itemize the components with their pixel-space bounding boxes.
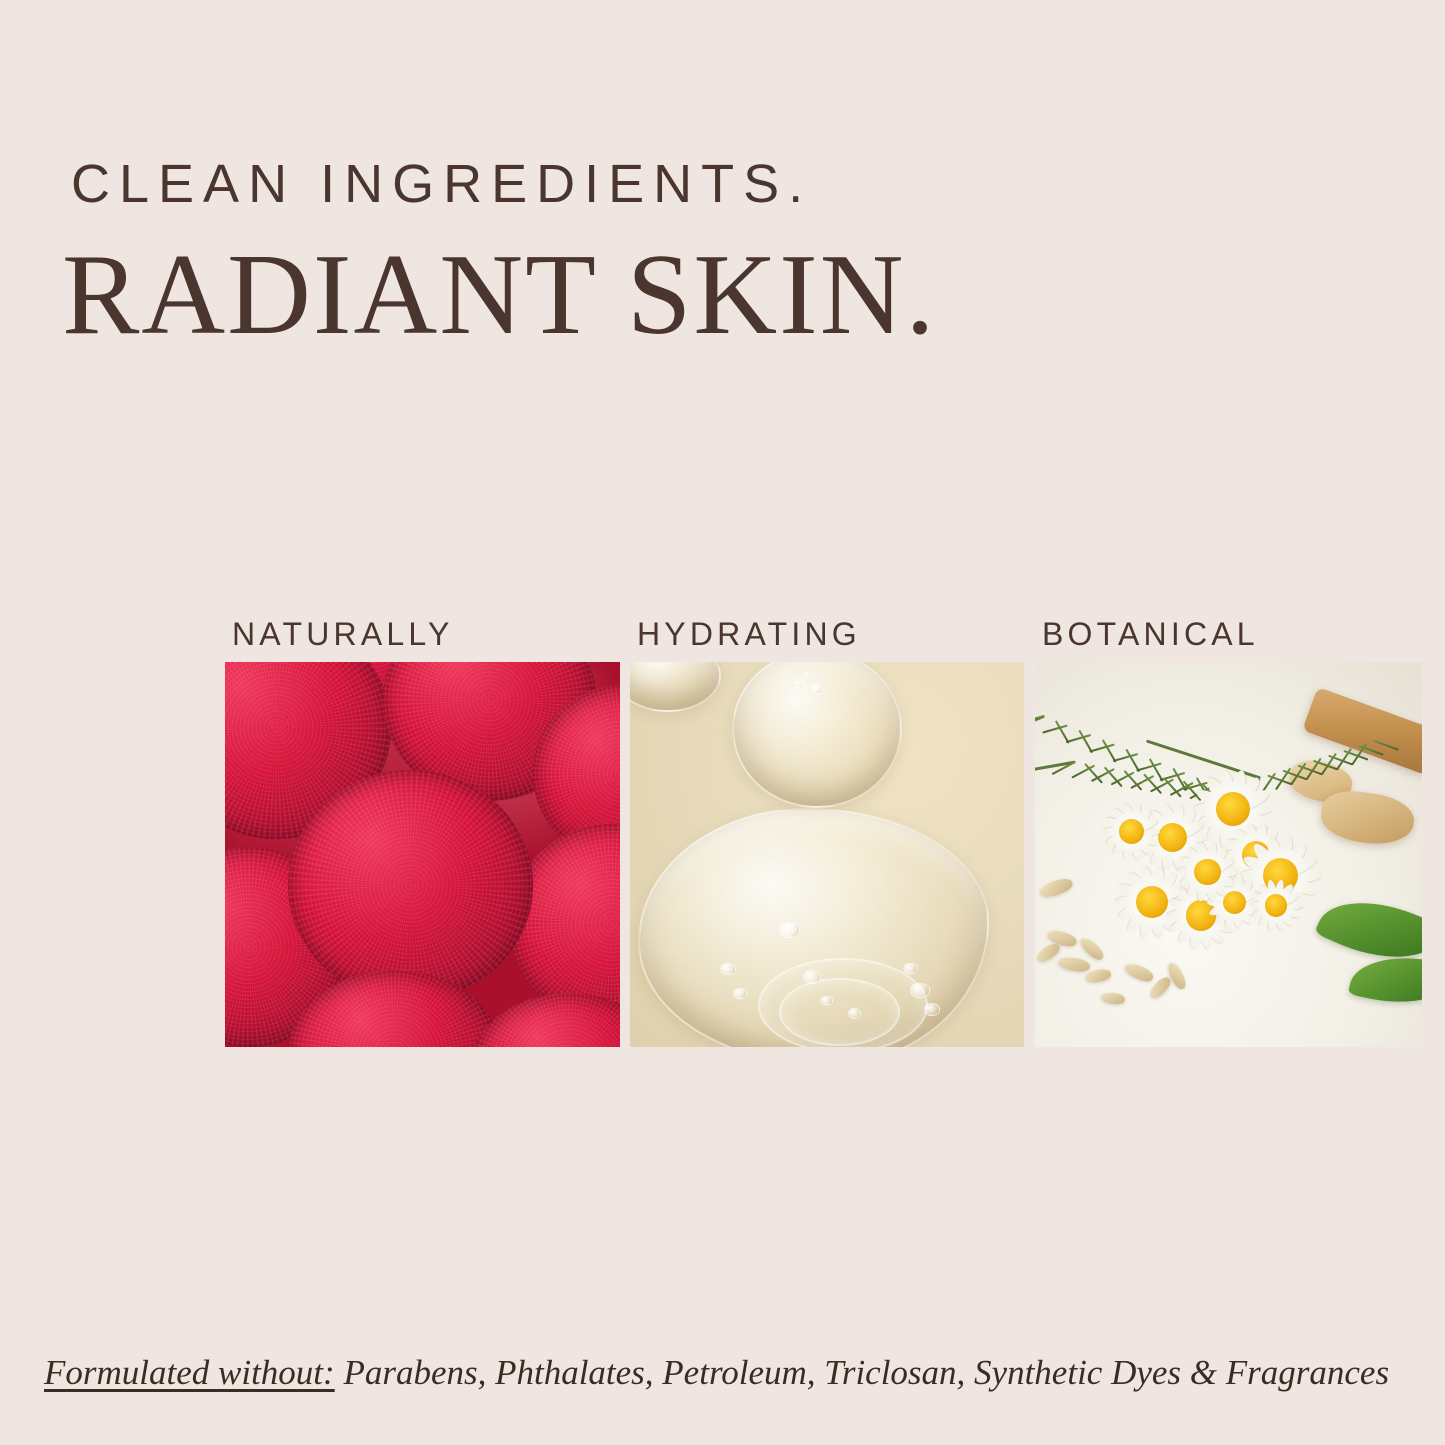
gel-bubble: [903, 963, 917, 974]
flower-center: [1194, 859, 1220, 885]
beet-slice: [470, 993, 620, 1047]
seed: [1123, 961, 1156, 984]
seed: [1037, 876, 1074, 901]
ingredient-column-glycerin: HYDRATING GLYCERIN: [630, 560, 1024, 1047]
excluded-ingredients-list: Parabens, Phthalates, Petroleum, Triclos…: [335, 1353, 1389, 1392]
gel-bubble: [910, 983, 929, 998]
chamomile-flower: [1101, 801, 1163, 863]
chamomile-flower: [1174, 839, 1240, 905]
rosemary-stem: [1035, 714, 1045, 788]
chamomile-flower: [1248, 878, 1304, 934]
gel-bubble: [794, 680, 803, 688]
ingredient-label-line1: BOTANICAL: [1042, 616, 1259, 652]
gel-droplet: [630, 662, 721, 712]
formulated-without-note: Formulated without: Parabens, Phthalates…: [44, 1352, 1424, 1394]
gel-bubble: [803, 970, 821, 984]
gel-bubble: [924, 1003, 940, 1015]
botanical-extracts-photo: [1035, 662, 1422, 1047]
seed: [1084, 967, 1112, 984]
gel-bubble: [733, 988, 747, 999]
eyebrow-heading: CLEAN INGREDIENTS.: [71, 157, 812, 211]
formulated-without-label: Formulated without:: [44, 1353, 335, 1392]
gel-droplet: [638, 808, 989, 1047]
beet-slices-photo: [225, 662, 620, 1047]
ingredient-column-dha: NATURALLY DERIVED DHA: [225, 560, 620, 1047]
page-title: RADIANT SKIN.: [62, 237, 937, 353]
glycerin-gel-photo: [630, 662, 1024, 1047]
flower-center: [1265, 894, 1287, 916]
ingredient-column-botanical: BOTANICAL EXTRACTS: [1035, 560, 1422, 1047]
ingredient-columns: NATURALLY DERIVED DHA HYDRATING GLYCERIN: [225, 560, 1422, 1050]
gel-bubble: [811, 683, 823, 694]
gel-bubble: [804, 672, 810, 678]
gel-bubble: [820, 996, 832, 1006]
flower-center: [1119, 819, 1144, 844]
gel-bubble: [848, 1008, 861, 1018]
seed: [1100, 992, 1125, 1005]
root-slice: [1318, 787, 1417, 849]
gel-droplet: [732, 662, 901, 808]
gel-bubble: [720, 963, 737, 976]
ingredient-label-line1: NATURALLY: [232, 616, 454, 652]
gel-bubble: [779, 922, 800, 938]
seed: [1057, 956, 1090, 973]
beet-slice: [288, 770, 533, 1001]
gel-ring: [779, 978, 901, 1046]
ingredient-label-line1: HYDRATING: [637, 616, 861, 652]
